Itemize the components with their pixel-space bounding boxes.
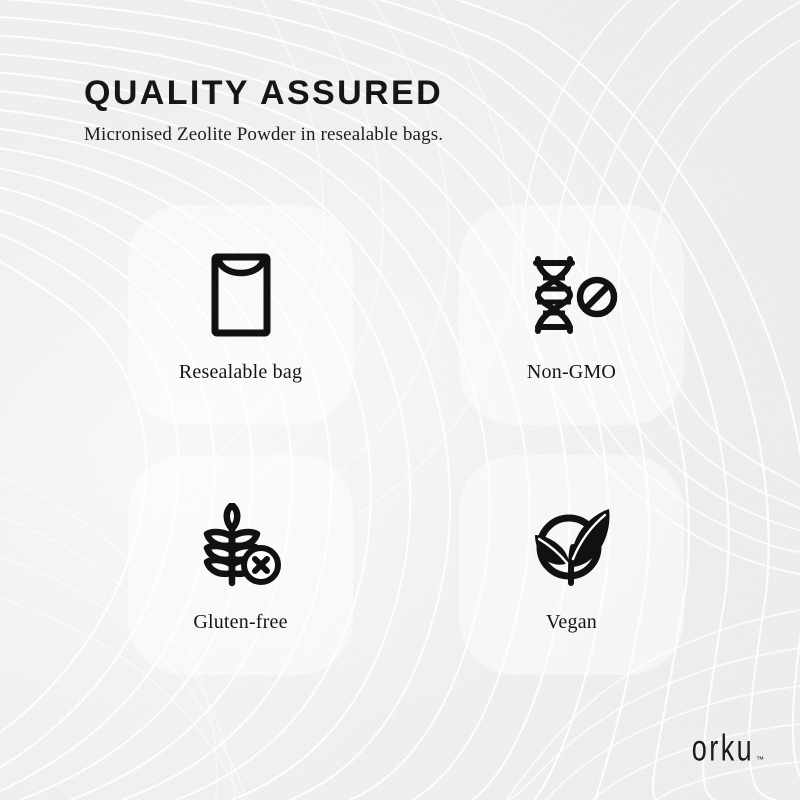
wheat-crossed-out-icon [198, 503, 284, 587]
feature-label: Non-GMO [527, 361, 616, 384]
brand-logo: orku ™ [678, 733, 764, 766]
promo-graphic: QUALITY ASSURED Micronised Zeolite Powde… [0, 0, 800, 800]
feature-label: Vegan [546, 611, 597, 634]
page-title: QUALITY ASSURED [84, 76, 443, 110]
brand-name: orku [692, 729, 754, 766]
header: QUALITY ASSURED Micronised Zeolite Powde… [84, 76, 443, 147]
trademark-symbol: ™ [756, 756, 764, 764]
feature-label: Gluten-free [193, 611, 287, 634]
leaf-sprout-icon [527, 503, 617, 587]
page-subtitle: Micronised Zeolite Powder in resealable … [84, 124, 443, 147]
feature-grid: Resealable bag [128, 205, 684, 675]
feature-card-resealable-bag: Resealable bag [128, 205, 353, 425]
feature-card-gluten-free: Gluten-free [128, 455, 353, 675]
feature-card-vegan: Vegan [459, 455, 684, 675]
feature-card-non-gmo: Non-GMO [459, 205, 684, 425]
resealable-bag-icon [211, 253, 271, 337]
dna-no-gmo-icon [524, 253, 620, 337]
feature-label: Resealable bag [179, 361, 302, 384]
